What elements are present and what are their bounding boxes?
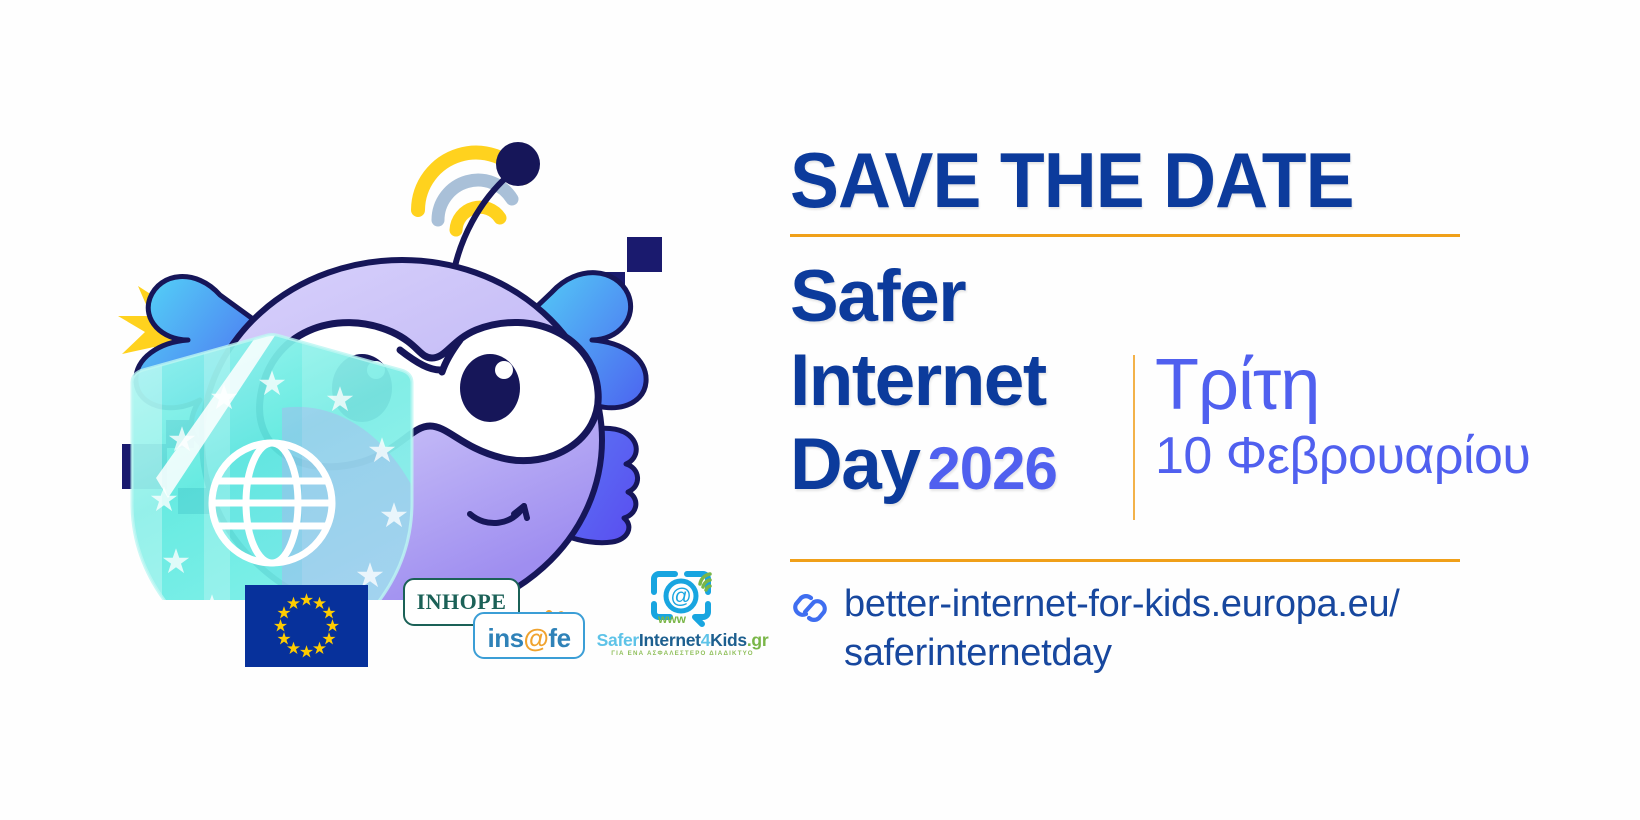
divider-rule-top (790, 234, 1460, 237)
insafe-logo[interactable]: ins@fe (473, 612, 585, 659)
partner-logos: INHOPE ins@fe @ (240, 568, 780, 678)
saferinternet4kids-logo[interactable]: @ www SaferInternet4Kids.gr ΓΙΑ ΕΝΑ ΑΣΦΑ… (595, 568, 770, 668)
poster-text-block: SAVE THE DATE Safer Internet Day2026 Τρί… (790, 0, 1640, 820)
european-union-flag (245, 585, 368, 667)
save-the-date-headline: SAVE THE DATE (790, 135, 1354, 226)
title-year: 2026 (927, 435, 1056, 502)
website-url-line1: better-internet-for-kids.europa.eu/ (844, 580, 1400, 629)
title-line-day: Day (790, 424, 919, 505)
event-date: Τρίτη 10 Φεβρουαρίου (1155, 345, 1530, 487)
title-line-day-year: Day2026 (790, 423, 1057, 511)
insafe-at-icon: @ (524, 623, 549, 653)
insafe-label-before: ins (487, 623, 523, 653)
saferinternet4kids-tagline: ΓΙΑ ΕΝΑ ΑΣΦΑΛΕΣΤΕΡΟ ΔΙΑΔΙΚΤΥΟ (595, 650, 770, 657)
website-url[interactable]: better-internet-for-kids.europa.eu/ safe… (844, 580, 1400, 678)
saferinternet4kids-wordmark: SaferInternet4Kids.gr (595, 630, 770, 651)
title-line-internet: Internet (790, 339, 1057, 423)
mascot-illustration-area: INHOPE ins@fe @ (0, 0, 790, 820)
safer-internet-day-title: Safer Internet Day2026 (790, 255, 1057, 511)
title-line-safer: Safer (790, 255, 1057, 339)
safer-internet-day-mascot (100, 40, 740, 600)
si4k-part-internet: Internet (639, 630, 701, 650)
eu-shield-with-globe (122, 328, 432, 600)
si4k-part-kids: Kids (710, 630, 747, 650)
website-url-line2: saferinternetday (844, 629, 1400, 678)
house-at-wifi-icon: @ www (640, 568, 722, 628)
si4k-part-tld: .gr (747, 630, 768, 650)
insafe-label-after: fe (548, 623, 570, 653)
svg-text:@: @ (670, 585, 691, 608)
event-day-month: 10 Φεβρουαρίου (1155, 425, 1530, 487)
event-weekday: Τρίτη (1155, 345, 1530, 425)
date-vertical-divider (1133, 355, 1135, 520)
divider-rule-bottom (790, 559, 1460, 562)
insafe-label: ins@fe (487, 623, 570, 654)
website-link-row[interactable]: better-internet-for-kids.europa.eu/ safe… (790, 580, 1400, 678)
link-chain-icon (790, 589, 830, 625)
si4k-part-safer: Safer (597, 630, 639, 650)
save-the-date-poster: INHOPE ins@fe @ (0, 0, 1640, 820)
si4k-part-four: 4 (701, 630, 710, 650)
si4k-www-label: www (657, 612, 687, 626)
